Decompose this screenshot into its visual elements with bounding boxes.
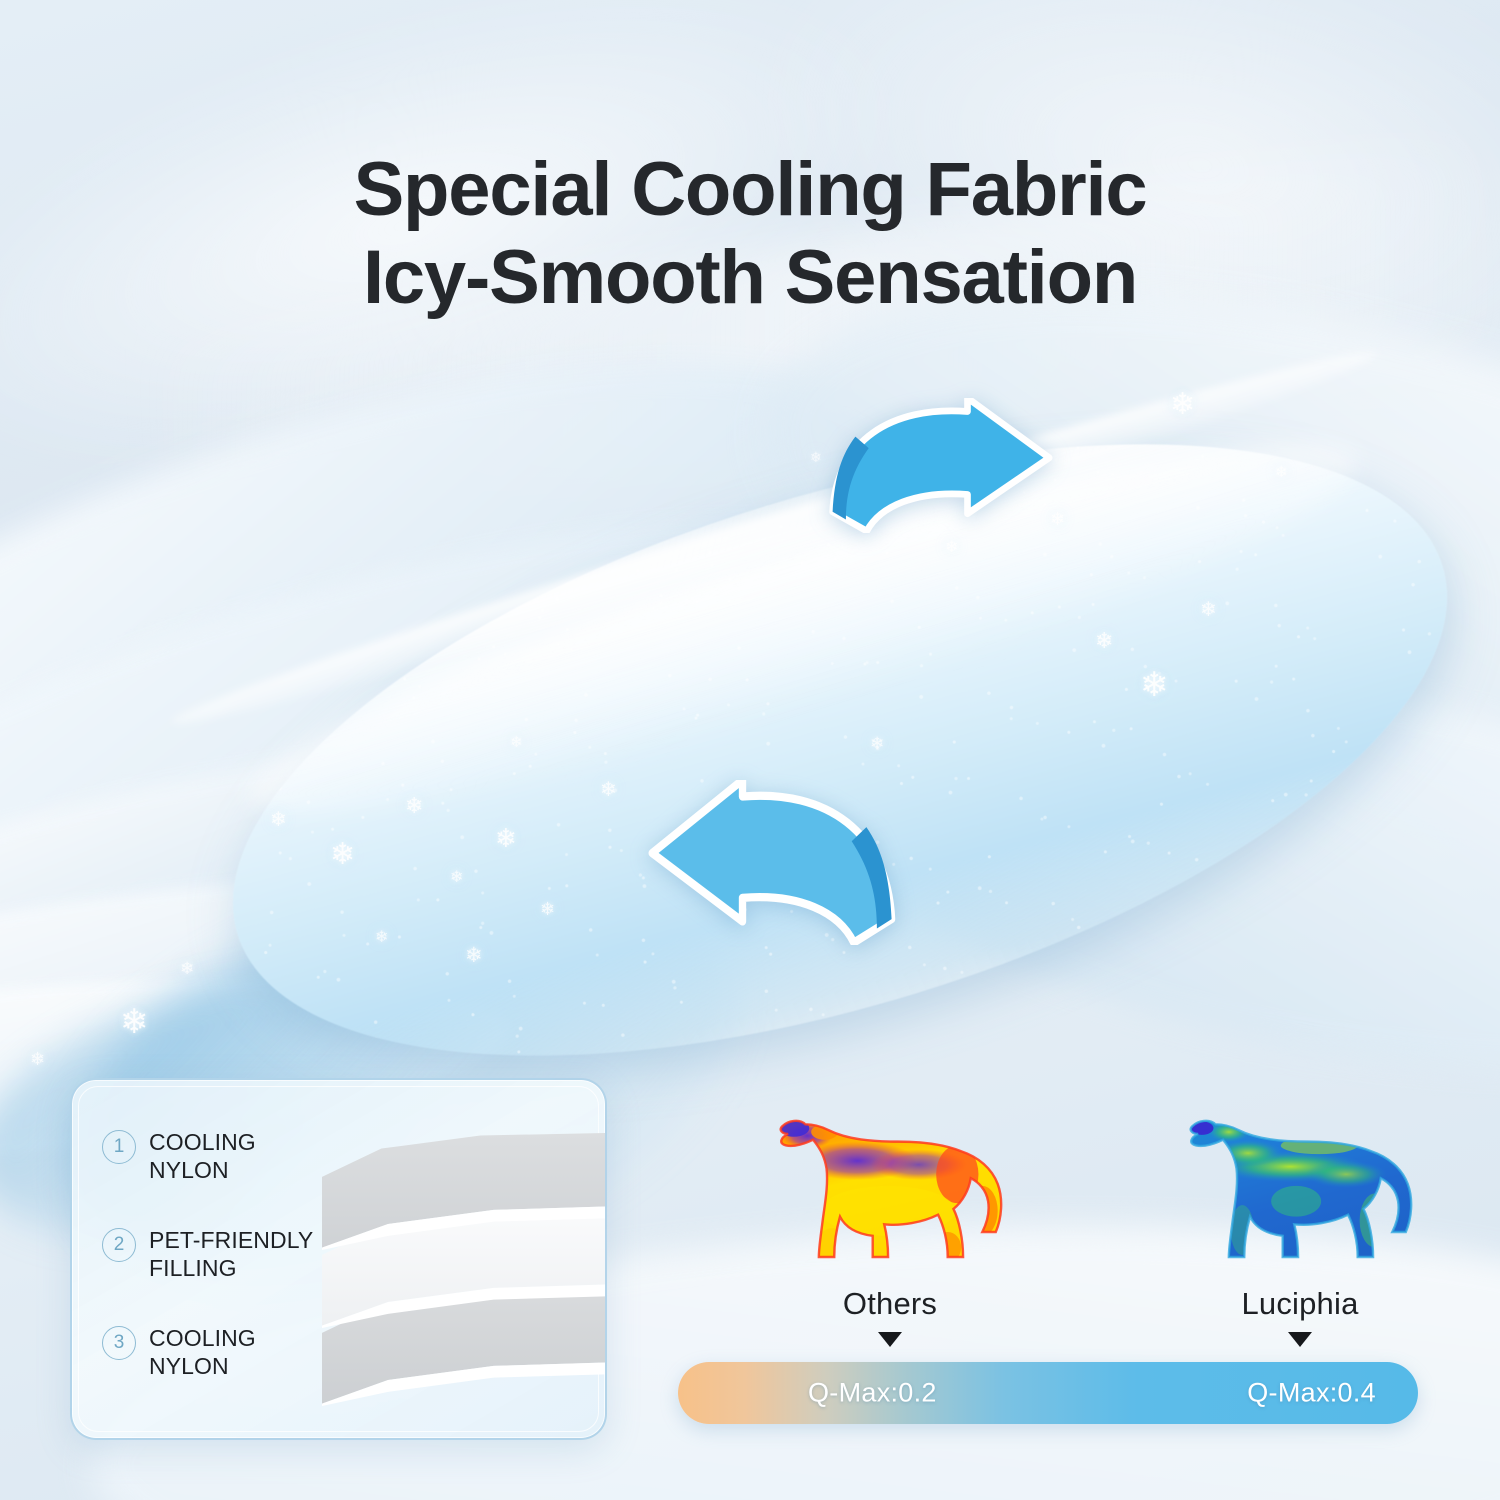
thermal-comparison-others: Others	[735, 1082, 1045, 1347]
sheet-face	[322, 1132, 607, 1250]
thermal-dog-hot-icon	[765, 1082, 1015, 1282]
list-item: 2 PET-FRIENDLY FILLING	[102, 1226, 352, 1282]
headline-line-2: Icy-Smooth Sensation	[0, 234, 1500, 322]
layer-number-badge: 1	[102, 1130, 136, 1164]
comparison-label-luciphia: Luciphia	[1145, 1286, 1455, 1322]
layers-list: 1 COOLING NYLON 2 PET-FRIENDLY FILLING 3…	[102, 1128, 352, 1380]
layer-number-badge: 2	[102, 1228, 136, 1262]
circulation-arrow-left-icon	[585, 780, 900, 945]
down-triangle-icon	[1288, 1332, 1312, 1347]
qmax-value-luciphia: Q-Max:0.4	[1247, 1378, 1376, 1409]
snowflake-icon: ❄	[180, 960, 194, 977]
list-item: 3 COOLING NYLON	[102, 1324, 352, 1380]
thermal-dog-cool-icon	[1175, 1082, 1425, 1282]
headline-line-1: Special Cooling Fabric	[0, 146, 1500, 234]
product-feature-banner: ❄ ❄ ❄ ❄ ❄ ❄ ❄ ❄ ❄ ❄ ❄ ❄ ❄ ❄ ❄ ❄ ❄ ❄ ❄ ❄ …	[0, 0, 1500, 1500]
layer-label: COOLING NYLON	[149, 1324, 256, 1380]
list-item: 1 COOLING NYLON	[102, 1128, 352, 1184]
layer-label: PET-FRIENDLY FILLING	[149, 1226, 313, 1282]
comparison-label-others: Others	[735, 1286, 1045, 1322]
qmax-value-others: Q-Max:0.2	[808, 1378, 937, 1409]
qmax-gradient-scale: Q-Max:0.2 Q-Max:0.4	[678, 1362, 1418, 1424]
layer-label: COOLING NYLON	[149, 1128, 256, 1184]
thermal-comparison-luciphia: Luciphia	[1145, 1082, 1455, 1347]
fabric-sheet-top	[322, 1132, 607, 1250]
circulation-arrow-right-icon	[825, 398, 1110, 533]
snowflake-icon: ❄	[810, 450, 822, 464]
layer-number-badge: 3	[102, 1326, 136, 1360]
construction-layers-card: 1 COOLING NYLON 2 PET-FRIENDLY FILLING 3…	[70, 1078, 607, 1440]
page-title: Special Cooling Fabric Icy-Smooth Sensat…	[0, 146, 1500, 322]
fabric-layer-stack-illustration	[322, 1132, 607, 1422]
down-triangle-icon	[878, 1332, 902, 1347]
